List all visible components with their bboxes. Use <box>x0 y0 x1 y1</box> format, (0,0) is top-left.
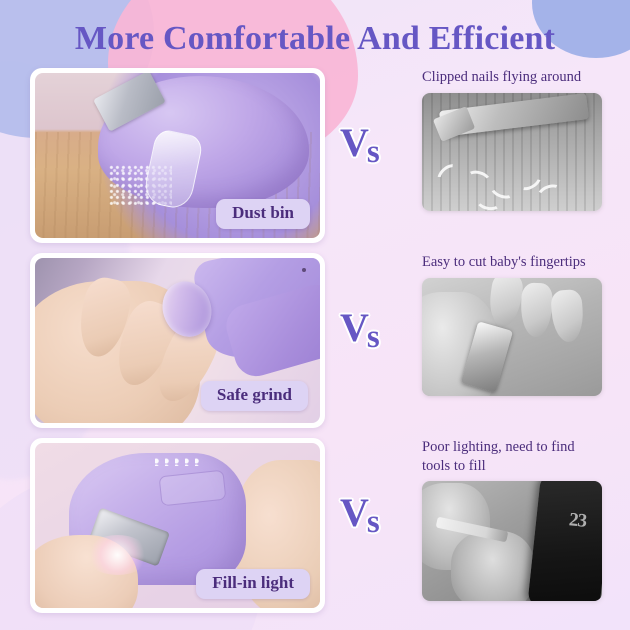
baby-hand-shape <box>451 531 534 601</box>
finger-shape <box>550 289 584 343</box>
vs-letter-s: s <box>367 504 380 540</box>
led-indicator-lights <box>155 458 203 466</box>
chip-label-safe-grind: Safe grind <box>201 381 308 411</box>
grinding-disc-on-finger-photo: Safe grind <box>35 258 320 423</box>
con-column-2: Easy to cut baby's fingertips <box>422 253 604 396</box>
phone-shape <box>527 481 602 601</box>
vs-separator-3: Vs <box>340 493 412 549</box>
pro-photo-card-3: Fill-in light <box>30 438 325 613</box>
page-title: More Comfortable And Efficient <box>0 20 630 58</box>
nail-clipper-clippings-on-wood-photo <box>422 93 602 211</box>
vs-letter-v: V <box>340 490 369 535</box>
con-caption-3: Poor lighting, need to find tools to fil… <box>422 438 602 475</box>
pro-photo-card-2: Safe grind <box>30 253 325 428</box>
infographic-page: More Comfortable And Efficient Dust bin … <box>0 0 630 630</box>
pro-photo-card-1: Dust bin <box>30 68 325 243</box>
finger-shape <box>520 282 552 337</box>
fill-light-glow <box>86 535 149 575</box>
vs-letter-s: s <box>367 319 380 355</box>
vs-letter-v: V <box>340 120 369 165</box>
con-caption-1: Clipped nails flying around <box>422 68 602 87</box>
vs-separator-1: Vs <box>340 123 412 179</box>
comparison-row-2: Safe grind Vs Easy to cut baby's fingert… <box>0 253 630 428</box>
comparison-row-3: Fill-in light Vs Poor lighting, need to … <box>0 438 630 613</box>
phone-flashlight-nail-filing-photo: 23 <box>422 481 602 601</box>
chip-label-dust-bin: Dust bin <box>216 199 310 229</box>
vs-letter-v: V <box>340 305 369 350</box>
chip-label-fill-in-light: Fill-in light <box>196 569 310 599</box>
con-column-1: Clipped nails flying around <box>422 68 604 211</box>
vs-letter-s: s <box>367 134 380 170</box>
vs-separator-2: Vs <box>340 308 412 364</box>
con-column-3: Poor lighting, need to find tools to fil… <box>422 438 604 601</box>
baby-nail-trimmer-with-dust-bin-photo: Dust bin <box>35 73 320 238</box>
trimmer-fill-in-light-photo: Fill-in light <box>35 443 320 608</box>
con-caption-2: Easy to cut baby's fingertips <box>422 253 602 272</box>
phone-screen-number: 23 <box>568 509 587 533</box>
indicator-dot <box>302 268 306 272</box>
comparison-row-1: Dust bin Vs Clipped nails flying around <box>0 68 630 243</box>
clipping-fingernails-photo <box>422 278 602 396</box>
control-buttons-shape <box>159 469 226 506</box>
